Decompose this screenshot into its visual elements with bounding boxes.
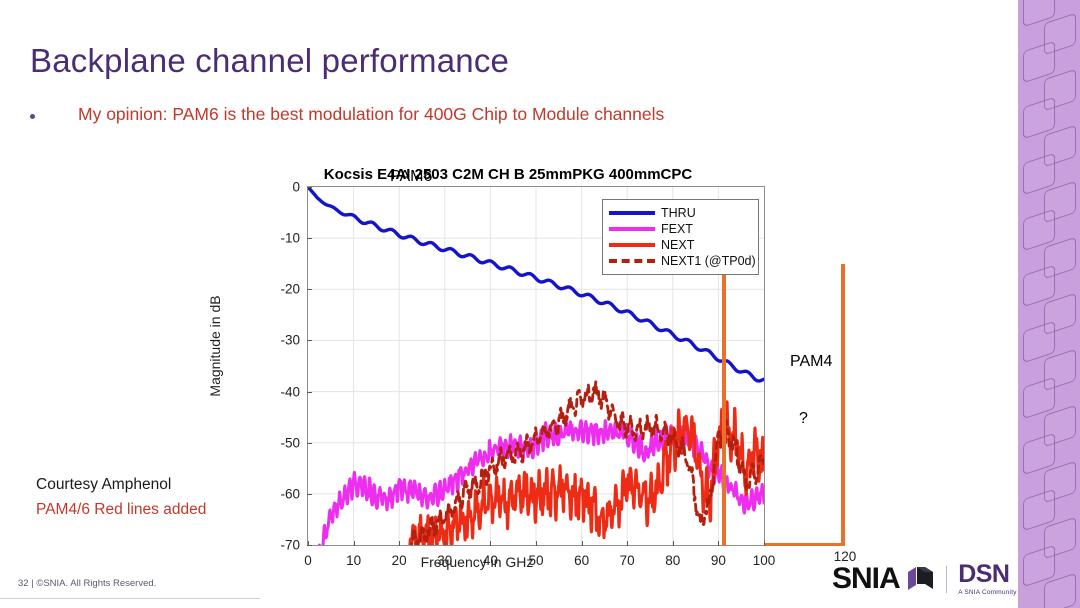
chart-title: Kocsis E4AI 2503 C2M CH B 25mmPKG 400mmC… [248, 166, 768, 183]
bullet-text: My opinion: PAM6 is the best modulation … [78, 104, 664, 125]
y-tick-label: -60 [266, 486, 300, 501]
x-axis-label: Frequency in GHz [421, 554, 534, 570]
pam6-annotation: PAM6 [390, 168, 432, 186]
logo-divider [946, 566, 948, 593]
legend-label: NEXT1 (@TP0d) [661, 254, 756, 268]
footer-copyright: 32 | ©SNIA. All Rights Reserved. [18, 578, 156, 589]
y-tickmark [307, 494, 312, 495]
x-tickmark [445, 541, 446, 546]
pam6-marker-line [722, 266, 726, 546]
x-tickmark [536, 541, 537, 546]
legend-swatch [609, 243, 655, 247]
legend-item: NEXT1 (@TP0d) [609, 253, 752, 269]
legend-label: THRU [661, 206, 696, 220]
decorative-purple-band [1018, 0, 1080, 608]
footer-divider [0, 598, 260, 599]
x-tick-label: 90 [711, 553, 726, 568]
slide: Backplane channel performance My opinion… [0, 0, 1080, 608]
x-tickmark [399, 541, 400, 546]
y-tickmark [307, 187, 312, 188]
x-tick-120: 120 [834, 549, 857, 564]
y-tickmark [307, 289, 312, 290]
x-tickmark [673, 541, 674, 546]
logo-dsn-group: DSN A SNIA Community [958, 562, 1016, 596]
bullet-row: My opinion: PAM6 is the best modulation … [30, 104, 664, 125]
y-tick-label: -70 [266, 538, 300, 553]
chart-figure: Kocsis E4AI 2503 C2M CH B 25mmPKG 400mmC… [248, 166, 860, 566]
plot-area: 0102030405060708090100 0-10-20-30-40-50-… [307, 186, 765, 546]
y-tick-label: -40 [266, 384, 300, 399]
pam4-annotation: PAM4 [790, 353, 832, 371]
x-tickmark [718, 541, 719, 546]
y-axis-label: Magnitude in dB [207, 295, 223, 396]
y-tick-label: -50 [266, 435, 300, 450]
snia-dsn-logo: SNIA DSN A SNIA Community [832, 562, 1017, 596]
x-tickmark [582, 541, 583, 546]
logo-dsn-wordmark: DSN [958, 562, 1016, 587]
x-tickmark [490, 541, 491, 546]
legend-item: NEXT [609, 237, 752, 253]
pam4-marker-line [841, 264, 845, 546]
y-tick-label: -20 [266, 282, 300, 297]
y-tickmark [307, 443, 312, 444]
x-tick-label: 10 [346, 553, 361, 568]
legend-label: NEXT [661, 238, 694, 252]
x-tickmark [627, 541, 628, 546]
bullet-dot-icon [30, 114, 35, 119]
y-tick-label: -10 [266, 231, 300, 246]
y-tickmark [307, 392, 312, 393]
legend-item: FEXT [609, 221, 752, 237]
legend-label: FEXT [661, 222, 693, 236]
logo-dsn-tagline: A SNIA Community [958, 589, 1016, 596]
y-tick-label: -30 [266, 333, 300, 348]
x-tick-label: 80 [665, 553, 680, 568]
pam4-question-annotation: ? [799, 410, 808, 428]
redlines-note: PAM4/6 Red lines added [36, 501, 206, 519]
x-tick-label: 20 [392, 553, 407, 568]
cube-icon [907, 565, 935, 596]
y-tickmark [307, 238, 312, 239]
legend-swatch [609, 211, 655, 215]
legend-item: THRU [609, 205, 752, 221]
y-tickmark [307, 545, 312, 546]
x-tick-label: 100 [753, 553, 776, 568]
pam4-marker-baseline [765, 543, 845, 546]
chart-legend: THRUFEXTNEXTNEXT1 (@TP0d) [602, 199, 759, 275]
logo-snia-wordmark: SNIA [832, 564, 900, 594]
x-tick-label: 70 [620, 553, 635, 568]
y-tickmark [307, 340, 312, 341]
courtesy-note: Courtesy Amphenol [36, 476, 171, 494]
legend-swatch [609, 227, 655, 231]
x-tick-label: 60 [574, 553, 589, 568]
footer-rule [0, 601, 1018, 604]
y-tick-label: 0 [266, 180, 300, 195]
page-title: Backplane channel performance [30, 42, 509, 80]
x-tickmark [354, 541, 355, 546]
x-tick-label: 0 [304, 553, 312, 568]
legend-swatch [609, 259, 655, 263]
